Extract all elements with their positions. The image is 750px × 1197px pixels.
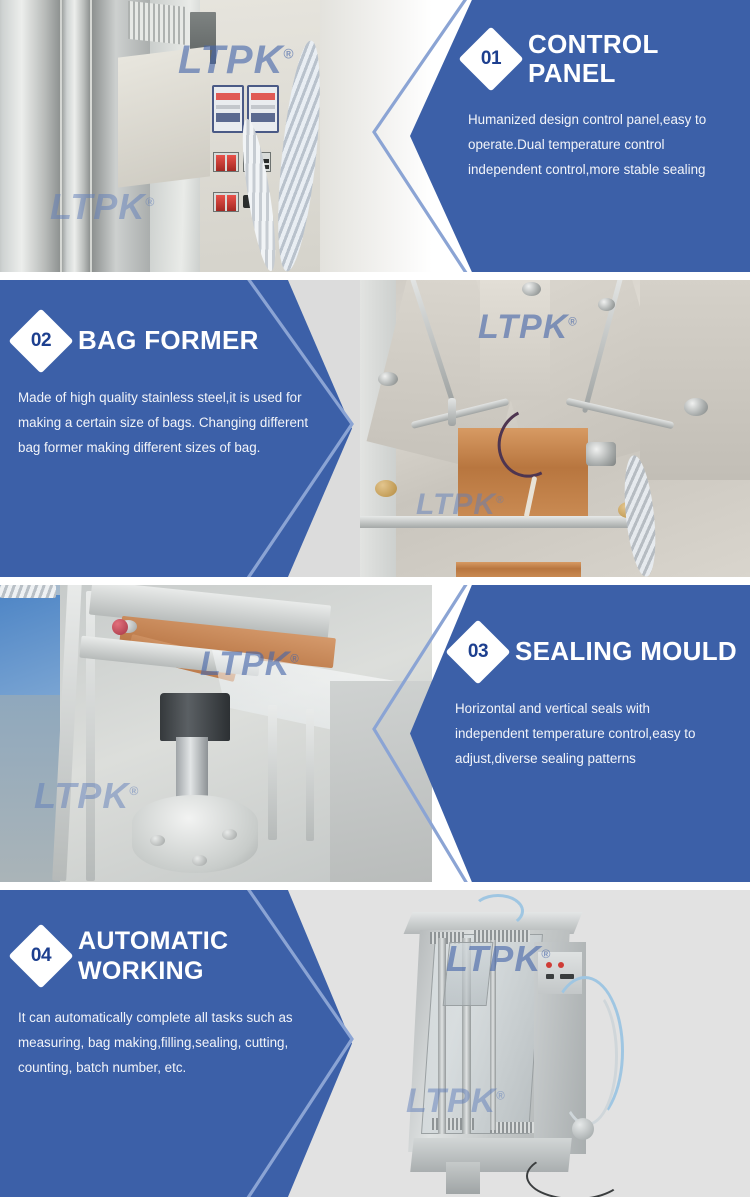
product-feature-infographic: LTPK® LTPK® 01 CONTROL PANEL Humanized d… <box>0 0 750 1197</box>
indicator-light <box>546 962 552 968</box>
feature-photo-automatic-working: LTPK® LTPK® <box>350 890 750 1197</box>
feature-title: AUTOMATIC WORKING <box>78 926 228 986</box>
feature-heading: 03 SEALING MOULD <box>455 629 750 675</box>
feature-panel-sealing-mould: LTPK® LTPK® 03 SEALING MOULD Horizontal … <box>0 585 750 882</box>
feature-text-block: 01 CONTROL PANEL Humanized design contro… <box>468 0 750 272</box>
step-number: 02 <box>18 318 64 364</box>
step-number-badge: 04 <box>8 923 73 988</box>
feature-description: It can automatically complete all tasks … <box>18 1006 348 1080</box>
step-number-badge: 02 <box>8 308 73 373</box>
feature-text-block: 02 BAG FORMER Made of high quality stain… <box>18 280 338 577</box>
feature-description: Horizontal and vertical seals with indep… <box>455 697 750 771</box>
discharge-chute <box>446 1162 480 1194</box>
feature-title: CONTROL PANEL <box>528 30 750 88</box>
rocker-switch <box>213 192 239 212</box>
step-number: 04 <box>18 933 64 979</box>
feature-heading: 02 BAG FORMER <box>18 318 338 364</box>
rocker-switch <box>213 152 239 172</box>
supply-hose <box>556 986 618 1126</box>
feature-panel-automatic-working: LTPK® LTPK® 04 AUTOMATIC WORKING It can … <box>0 890 750 1197</box>
step-number-badge: 03 <box>445 619 510 684</box>
feature-text-block: 03 SEALING MOULD Horizontal and vertical… <box>455 585 750 882</box>
feature-description: Humanized design control panel,easy to o… <box>468 108 750 182</box>
feature-description: Made of high quality stainless steel,it … <box>18 386 338 460</box>
step-number: 03 <box>455 629 501 675</box>
feature-heading: 01 CONTROL PANEL <box>468 30 750 88</box>
feature-panel-bag-former: LTPK® LTPK® 02 BAG FORMER Made of high q… <box>0 280 750 577</box>
feature-title: BAG FORMER <box>78 326 259 355</box>
black-cylinder <box>160 693 230 741</box>
indicator-light <box>558 962 564 968</box>
feature-photo-bag-former: LTPK® LTPK® <box>350 280 750 577</box>
step-number: 01 <box>468 36 514 82</box>
feature-panel-control-panel: LTPK® LTPK® 01 CONTROL PANEL Humanized d… <box>0 0 750 272</box>
feature-title: SEALING MOULD <box>515 637 737 666</box>
feature-text-block: 04 AUTOMATIC WORKING It can automaticall… <box>18 890 348 1197</box>
valve <box>572 1118 594 1140</box>
power-cord <box>526 1152 624 1197</box>
inlet-tube <box>472 894 524 928</box>
temperature-controller <box>212 85 244 133</box>
red-knob <box>112 619 128 635</box>
step-number-badge: 01 <box>458 27 523 92</box>
feature-heading: 04 AUTOMATIC WORKING <box>18 926 348 986</box>
